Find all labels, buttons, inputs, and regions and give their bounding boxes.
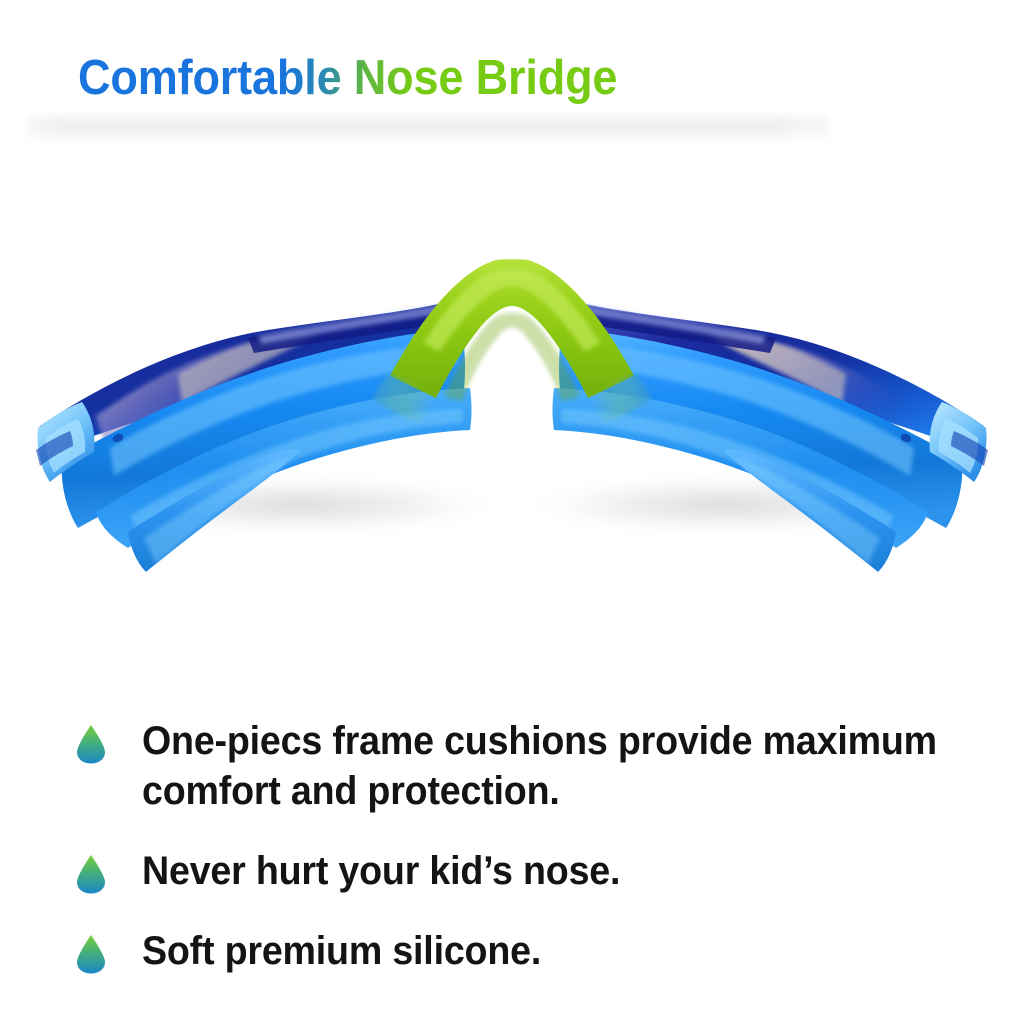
list-item: Soft premium silicone. (0, 926, 1024, 976)
list-item: Never hurt your kid’s nose. (0, 846, 1024, 896)
feature-list: One-piecs frame cushions provide maximum… (0, 716, 1024, 998)
nose-bridge (372, 259, 652, 426)
water-drop-icon (76, 934, 106, 974)
list-item-label: Soft premium silicone. (142, 926, 541, 976)
list-item: One-piecs frame cushions provide maximum… (0, 716, 1024, 816)
page-title: Comfortable Nose Bridge (78, 50, 617, 106)
water-drop-icon (76, 724, 106, 764)
water-drop-icon (76, 854, 106, 894)
list-item-label: Never hurt your kid’s nose. (142, 846, 620, 896)
list-item-label: One-piecs frame cushions provide maximum… (142, 716, 941, 816)
title-divider-shadow-inner (48, 126, 790, 142)
product-image (0, 160, 1024, 580)
